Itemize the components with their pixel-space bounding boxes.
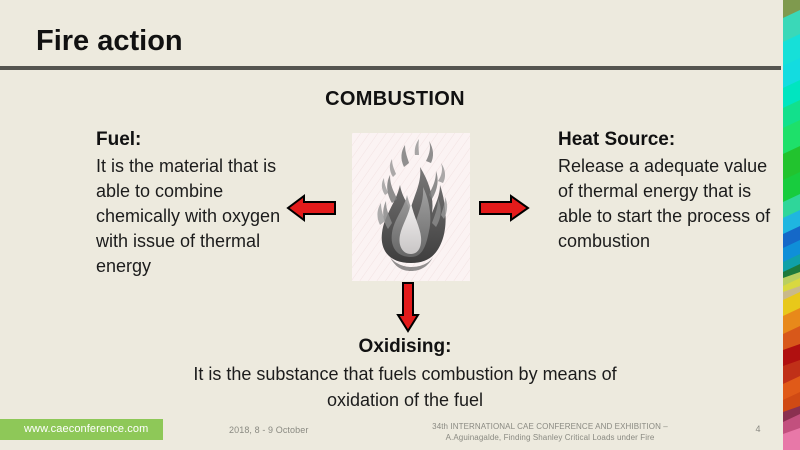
footer-url-label[interactable]: www.caeconference.com — [24, 423, 148, 435]
node-fuel-title: Fuel: — [96, 127, 301, 152]
footer-conference-info: 34th INTERNATIONAL CAE CONFERENCE AND EX… — [390, 421, 710, 443]
title-divider — [0, 66, 781, 70]
fire-sketch-image — [352, 133, 470, 281]
footer-page-number: 4 — [748, 424, 768, 434]
arrow-down-icon — [396, 281, 420, 333]
page-title: Fire action — [36, 22, 183, 60]
footer-conference-line1: 34th INTERNATIONAL CAE CONFERENCE AND EX… — [390, 421, 710, 432]
node-heat-source-body: Release a adequate value of thermal ener… — [558, 154, 773, 254]
arrow-right-icon — [478, 194, 530, 222]
footer-conference-line2: A.Aguinagalde, Finding Shanley Critical … — [390, 432, 710, 443]
slide-canvas: Fire action COMBUSTION — [0, 0, 800, 450]
node-fuel: Fuel: It is the material that is able to… — [96, 127, 301, 279]
node-oxidising-body: It is the substance that fuels combustio… — [160, 361, 650, 413]
node-heat-source: Heat Source: Release a adequate value of… — [558, 127, 773, 254]
node-fuel-body: It is the material that is able to combi… — [96, 154, 301, 279]
footer-date: 2018, 8 - 9 October — [229, 425, 308, 435]
color-mosaic-strip — [783, 0, 800, 450]
diagram-heading: COMBUSTION — [0, 88, 790, 111]
node-heat-source-title: Heat Source: — [558, 127, 773, 152]
node-oxidising: Oxidising: It is the substance that fuel… — [160, 334, 650, 413]
node-oxidising-title: Oxidising: — [160, 334, 650, 359]
